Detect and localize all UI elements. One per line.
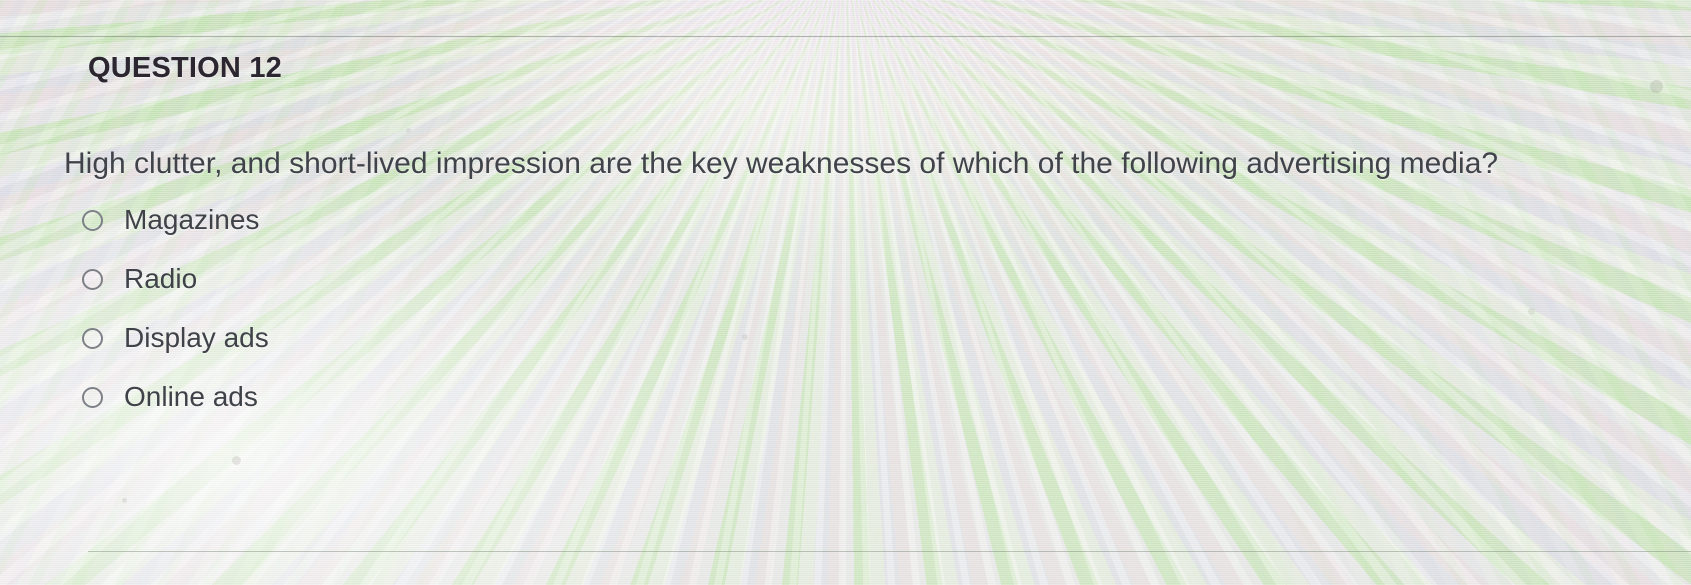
answer-option-label: Radio: [124, 263, 197, 295]
answer-option-magazines[interactable]: Magazines: [82, 202, 269, 238]
answer-option-label: Display ads: [124, 322, 269, 354]
answer-option-display-ads[interactable]: Display ads: [82, 320, 269, 356]
radio-button-icon[interactable]: [82, 210, 103, 231]
answer-option-label: Online ads: [124, 381, 258, 413]
radio-button-icon[interactable]: [82, 269, 103, 290]
answer-option-radio[interactable]: Radio: [82, 261, 269, 297]
top-divider: [0, 36, 1691, 37]
answer-option-online-ads[interactable]: Online ads: [82, 379, 269, 415]
question-prompt-text: High clutter, and short-lived impression…: [64, 147, 1498, 181]
quiz-question-screen: QUESTION 12 High clutter, and short-live…: [0, 0, 1691, 585]
question-number-heading: QUESTION 12: [88, 52, 282, 85]
radio-button-icon[interactable]: [82, 328, 103, 349]
bottom-divider: [88, 551, 1691, 552]
answer-option-label: Magazines: [124, 204, 259, 236]
radio-button-icon[interactable]: [82, 387, 103, 408]
answer-options-list: Magazines Radio Display ads Online ads: [82, 202, 269, 438]
question-content: QUESTION 12 High clutter, and short-live…: [0, 0, 1691, 585]
